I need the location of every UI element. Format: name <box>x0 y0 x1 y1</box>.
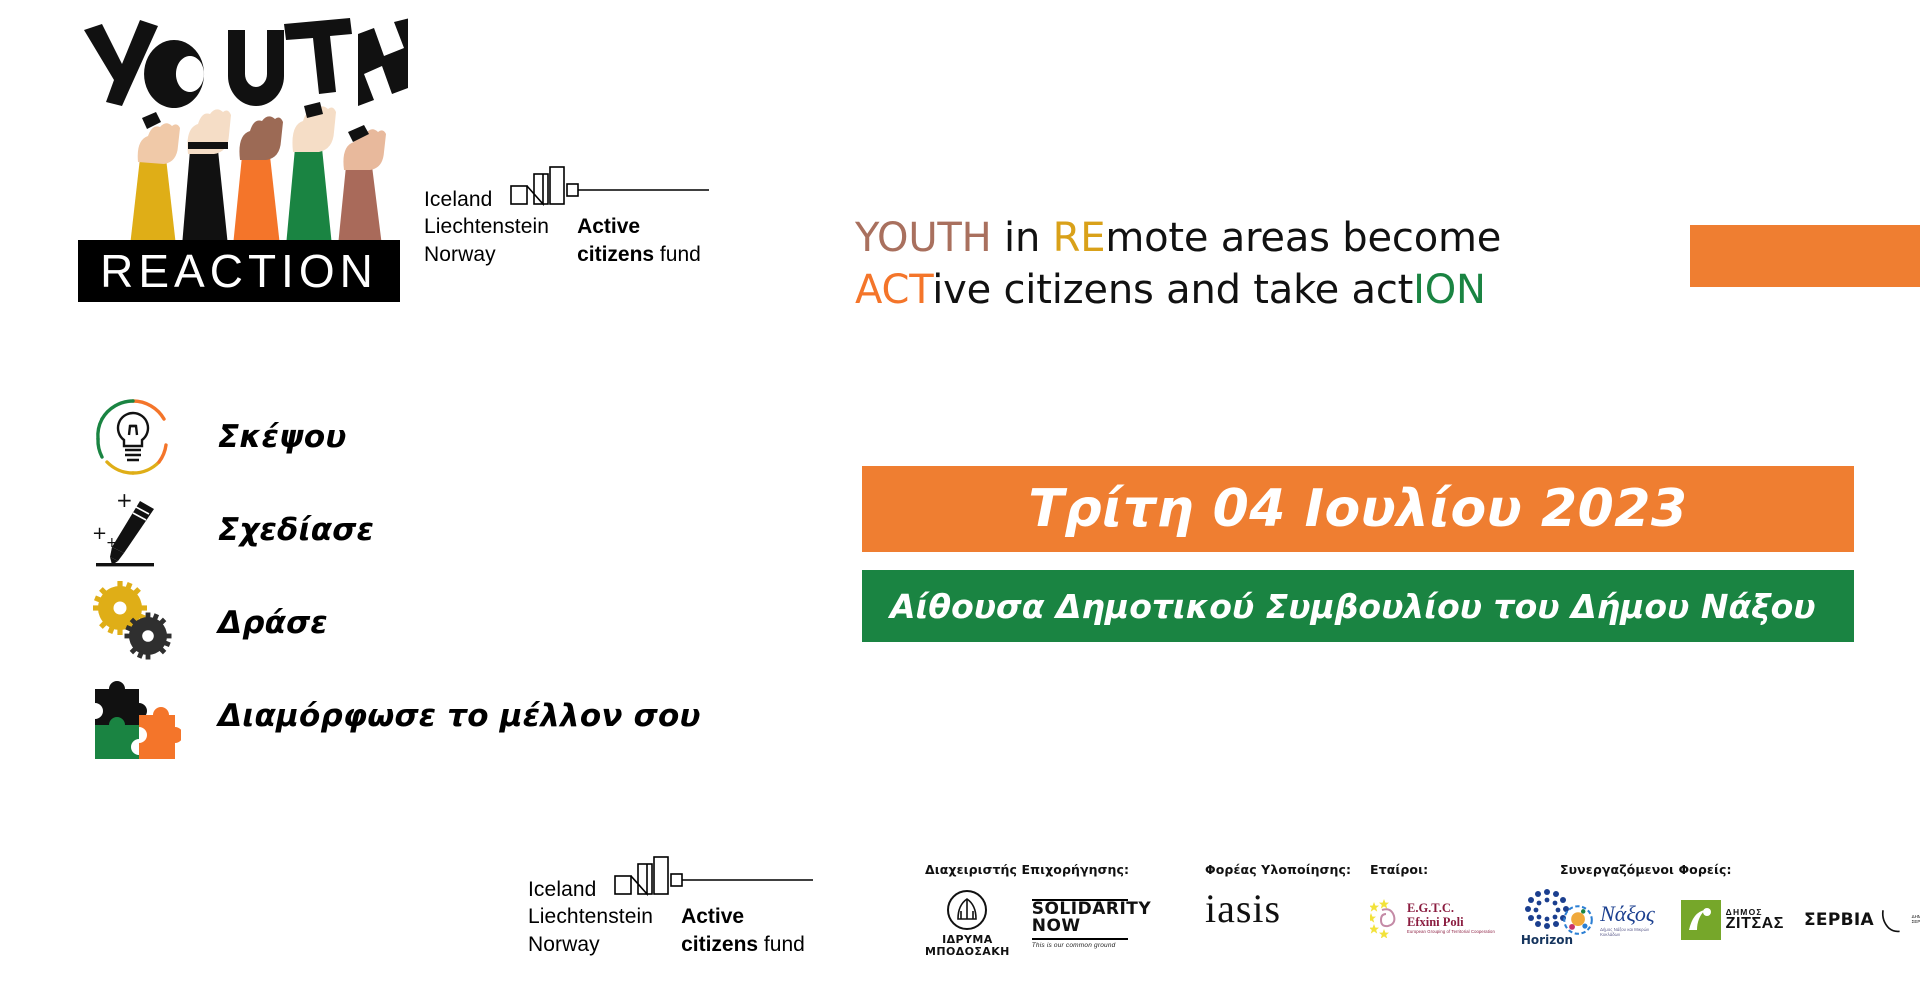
sn-rule-bottom <box>1032 938 1128 940</box>
step-item-shape-future: Διαμόρφωσε το μέλλον σου <box>78 669 818 762</box>
iasis-wordmark: iasis <box>1205 889 1281 929</box>
solidarity-now-logo: SOLIDARITY NOW This is our common ground <box>1032 899 1128 949</box>
headline-mote-rest: mote areas become <box>1105 215 1501 261</box>
active-citizens-fund-logo-footer: Iceland Liechtenstein Norway Active citi… <box>528 858 818 954</box>
acf-fund-text: Active citizens fund <box>577 213 701 268</box>
acf-fund-text-footer: Active citizens fund <box>681 903 805 958</box>
reaction-text: REACTION <box>100 248 378 294</box>
raised-hands-illustration <box>90 96 400 246</box>
acf-country-norway-footer: Norway <box>528 931 653 958</box>
step-item-act: Δράσε <box>78 576 818 669</box>
footer-group-partners: Εταίροι: E.G.T.C. Efxini Poli European G… <box>1370 862 1573 947</box>
step-label-act: Δράσε <box>218 605 328 641</box>
footer-group-grant-manager: Διαχειριστής Επιχορήγησης: ΙΔΡΥΜΑ ΜΠΟΔΟΣ… <box>925 862 1129 959</box>
acf-citizens-word-footer: citizens <box>681 933 758 956</box>
egtc-subtitle: European Grouping of Territorial Coopera… <box>1407 929 1495 934</box>
bodossaki-line-2: ΜΠΟΔΟΣΑΚΗ <box>925 946 1010 958</box>
acf-country-iceland: Iceland <box>424 186 549 213</box>
footer-group-implementer-title: Φορέας Υλοποίησης: <box>1205 862 1351 877</box>
event-date-banner: Τρίτη 04 Ιουλίου 2023 <box>862 466 1854 552</box>
acf-country-iceland-footer: Iceland <box>528 876 653 903</box>
acf-active-word: Active <box>577 215 640 238</box>
svg-text:+: + <box>92 523 107 544</box>
servia-wordmark: ΣΕΡΒΙΑ <box>1804 910 1874 930</box>
steps-list: Σκέψου + + + Σχεδίασε <box>78 390 818 762</box>
gears-icon <box>78 576 188 669</box>
naxos-subtitle: Δήμος Νάξου και Μικρών Κυκλάδων <box>1600 927 1661 937</box>
acf-citizens-word: citizens <box>577 243 654 266</box>
servia-municipality-logo: ΣΕΡΒΙΑ ΔΗΜΟΣ ΣΕΡΒΙΩΝ <box>1804 903 1920 937</box>
step-label-think: Σκέψου <box>218 419 347 455</box>
acf-country-norway: Norway <box>424 241 549 268</box>
egtc-efxini-poli-logo: E.G.T.C. Efxini Poli European Grouping o… <box>1370 898 1495 938</box>
now-word: NOW <box>1032 918 1081 935</box>
footer-group-implementer: Φορέας Υλοποίησης: iasis <box>1205 862 1351 929</box>
event-date-text: Τρίτη 04 Ιουλίου 2023 <box>1028 479 1687 539</box>
headline-ive-rest: ive citizens and take act <box>932 267 1413 313</box>
headline-youth: YOUTH <box>855 215 992 261</box>
headline-ion: ION <box>1413 267 1486 313</box>
event-venue-text: Αίθουσα Δημοτικού Συμβουλίου του Δήμου Ν… <box>890 587 1816 626</box>
acf-fund-word: fund <box>654 243 701 266</box>
orange-accent-block <box>1690 225 1920 287</box>
acf-countries-footer: Iceland Liechtenstein Norway <box>528 876 653 958</box>
footer-group-collaborators: Συνεργαζόμενοι Φορείς: Νάξος Δήμος Νάξου… <box>1560 862 1920 951</box>
step-label-shape-future: Διαμόρφωσε το μέλλον σου <box>218 698 701 734</box>
reaction-wordmark: REACTION <box>78 240 400 302</box>
acf-country-liechtenstein-footer: Liechtenstein <box>528 903 653 930</box>
active-citizens-fund-logo-header: Iceland Liechtenstein Norway Active citi… <box>424 168 714 264</box>
acf-fund-word-footer: fund <box>758 933 805 956</box>
headline-act: ACT <box>855 267 932 313</box>
acf-countries: Iceland Liechtenstein Norway <box>424 186 549 268</box>
youth-reaction-logo: REACTION <box>78 18 408 290</box>
zitsa-municipality-logo: ΔΗΜΟΣ ΖΙΤΣΑΣ <box>1681 900 1784 940</box>
acf-country-liechtenstein: Liechtenstein <box>424 213 549 240</box>
zitsa-line-2: ΖΙΤΣΑΣ <box>1726 916 1784 932</box>
footer-group-grant-manager-title: Διαχειριστής Επιχορήγησης: <box>925 862 1129 877</box>
svg-text:+: + <box>116 488 133 512</box>
headline-in: in <box>992 215 1053 261</box>
pencil-icon: + + + <box>78 483 188 576</box>
step-item-think: Σκέψου <box>78 390 818 483</box>
headline-re: RE <box>1053 215 1106 261</box>
bodossaki-foundation-logo: ΙΔΡΥΜΑ ΜΠΟΔΟΣΑΚΗ <box>925 889 1010 959</box>
step-item-design: + + + Σχεδίασε <box>78 483 818 576</box>
acf-active-word-footer: Active <box>681 905 744 928</box>
solidarity-now-tagline: This is our common ground <box>1032 942 1116 949</box>
egtc-line-1: E.G.T.C. <box>1407 902 1495 915</box>
step-label-design: Σχεδίασε <box>218 512 374 548</box>
naxos-municipality-logo: Νάξος Δήμος Νάξου και Μικρών Κυκλάδων <box>1560 899 1661 941</box>
naxos-wordmark: Νάξος <box>1600 903 1661 925</box>
egtc-line-2: Efxini Poli <box>1407 916 1495 929</box>
footer-group-collaborators-title: Συνεργαζόμενοι Φορείς: <box>1560 862 1920 877</box>
footer-group-partners-title: Εταίροι: <box>1370 862 1573 877</box>
iasis-logo: iasis <box>1205 889 1281 929</box>
lightbulb-icon <box>78 390 188 483</box>
event-venue-banner: Αίθουσα Δημοτικού Συμβουλίου του Δήμου Ν… <box>862 570 1854 642</box>
servia-subtitle: ΔΗΜΟΣ ΣΕΡΒΙΩΝ <box>1912 915 1920 925</box>
puzzle-icon <box>78 669 188 762</box>
